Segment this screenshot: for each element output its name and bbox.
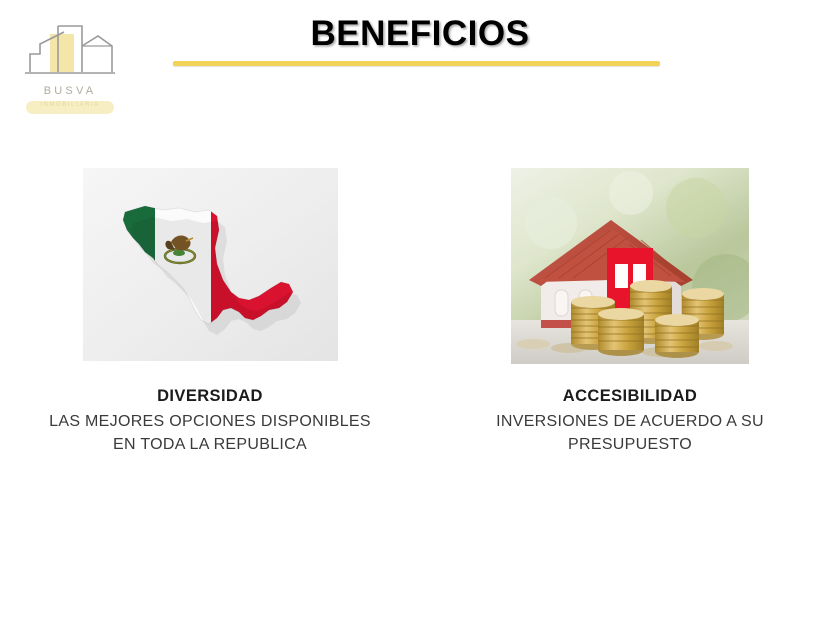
mexico-flag-map-image <box>83 168 338 361</box>
logo-tagline: INMOBILIARIA <box>26 102 114 108</box>
benefit-column-diversidad: DIVERSIDAD LAS MEJORES OPCIONES DISPONIB… <box>0 168 420 361</box>
benefit-body-line: PRESUPUESTO <box>420 433 840 456</box>
caption-block-accesibilidad: ACCESIBILIDAD INVERSIONES DE ACUERDO A S… <box>420 387 840 456</box>
logo-wordmark: BUSVA <box>20 85 120 97</box>
house-and-coins-image <box>511 168 749 364</box>
title-underline-rule <box>173 61 660 66</box>
caption-block-diversidad: DIVERSIDAD LAS MEJORES OPCIONES DISPONIB… <box>0 387 420 456</box>
logo-tagline-background: INMOBILIARIA <box>26 101 114 114</box>
page-title: BENEFICIOS <box>0 14 840 54</box>
benefit-heading: DIVERSIDAD <box>0 387 420 406</box>
benefit-body-line: EN TODA LA REPUBLICA <box>0 433 420 456</box>
benefit-body: INVERSIONES DE ACUERDO A SU PRESUPUESTO <box>420 410 840 456</box>
benefit-body: LAS MEJORES OPCIONES DISPONIBLES EN TODA… <box>0 410 420 456</box>
slide-beneficios: BUSVA INMOBILIARIA BENEFICIOS <box>0 0 840 630</box>
benefit-body-line: INVERSIONES DE ACUERDO A SU <box>420 410 840 433</box>
benefit-body-line: LAS MEJORES OPCIONES DISPONIBLES <box>0 410 420 433</box>
benefit-heading: ACCESIBILIDAD <box>420 387 840 406</box>
benefit-column-accesibilidad: ACCESIBILIDAD INVERSIONES DE ACUERDO A S… <box>420 168 840 364</box>
